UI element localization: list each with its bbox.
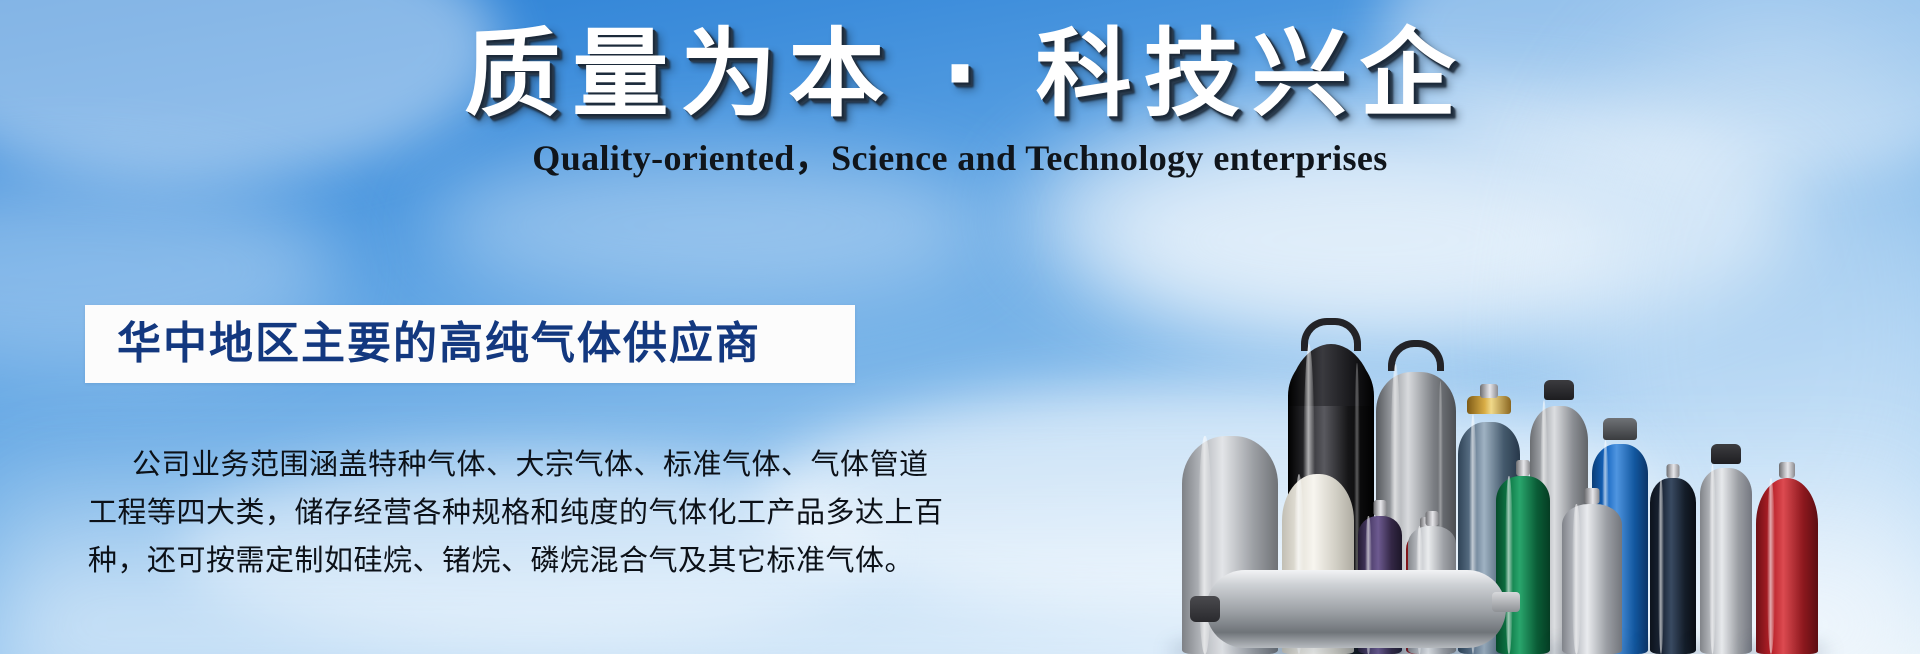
headline-text: 质量为本 · 科技兴企 (452, 18, 1467, 130)
valve-cap-icon (1603, 418, 1637, 440)
description-line: 公司业务范围涵盖特种气体、大宗气体、标准气体、气体管道 (88, 440, 878, 488)
description-line: 种，还可按需定制如硅烷、锗烷、磷烷混合气及其它标准气体。 (88, 536, 878, 584)
dark-navy-cylinder (1650, 478, 1696, 654)
horizontal-tank (1206, 570, 1506, 648)
highlight-box: 华中地区主要的高纯气体供应商 (85, 305, 855, 383)
description-line: 工程等四大类，储存经营各种规格和纯度的气体化工产品多达上百 (88, 488, 878, 536)
tank-end-cap-icon (1190, 596, 1220, 622)
aluminium-front-cylinder-2 (1562, 504, 1622, 654)
description-paragraph: 公司业务范围涵盖特种气体、大宗气体、标准气体、气体管道 工程等四大类，储存经营各… (88, 440, 878, 584)
headline: 质量为本 · 科技兴企 (0, 18, 1920, 130)
aluminium-cylinder (1700, 464, 1752, 654)
brass-valve-icon (1467, 396, 1511, 414)
tank-valve-icon (1492, 592, 1520, 612)
highlight-box-text: 华中地区主要的高纯气体供应商 (85, 318, 761, 370)
red-large-cylinder (1756, 478, 1818, 654)
promotional-banner: 质量为本 · 科技兴企 Quality-oriented，Science and… (0, 0, 1920, 654)
subtitle-text: Quality-oriented，Science and Technology … (532, 136, 1387, 180)
gas-cylinder-group-image (1200, 234, 1920, 654)
subtitle: Quality-oriented，Science and Technology … (0, 136, 1920, 180)
